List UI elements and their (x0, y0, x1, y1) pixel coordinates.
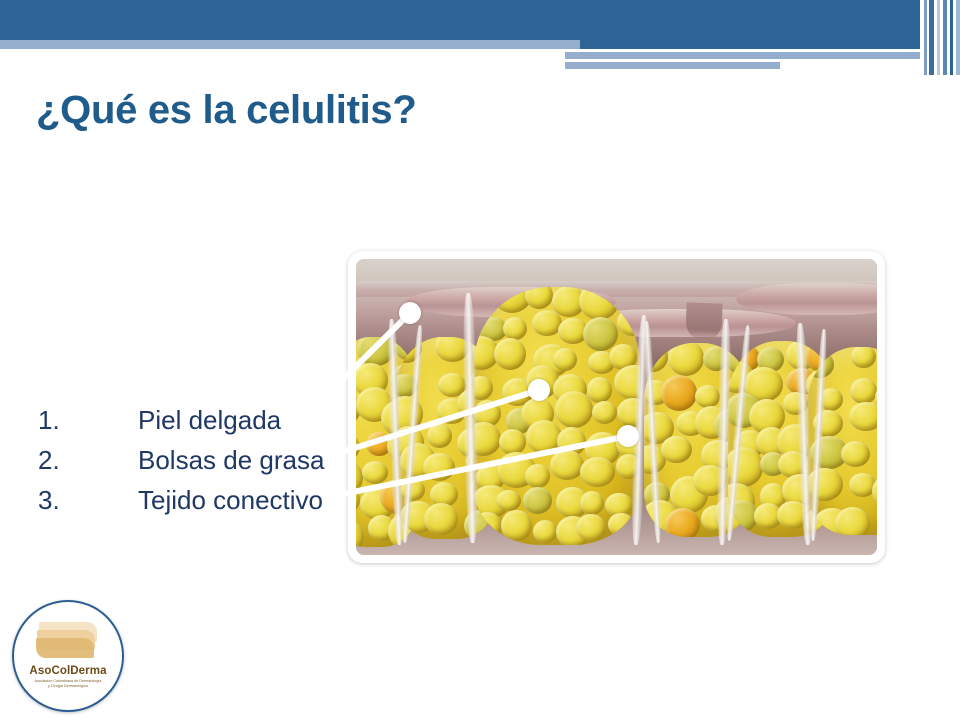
list-item-label: Piel delgada (138, 400, 368, 440)
fat-cell (356, 519, 364, 547)
fat-cell (503, 317, 527, 341)
fat-cell (587, 377, 613, 402)
fat-cell (608, 513, 633, 535)
numbered-list: 1. Piel delgada 2. Bolsas de grasa 3. Te… (38, 400, 368, 520)
fat-cell (474, 376, 493, 400)
fat-cell (851, 347, 876, 368)
callout-dot-tejido-conectivo (617, 425, 639, 447)
illustration-frame (348, 251, 885, 563)
header-stripe-group (920, 0, 960, 75)
header-band (0, 0, 960, 40)
fat-cell (849, 402, 877, 431)
fat-cell (474, 512, 502, 538)
fat-cell (583, 317, 618, 351)
fat-cell (841, 441, 870, 467)
logo-subtitle-line-2: y Cirugía Dermatológica (14, 684, 122, 689)
fat-cell (555, 391, 593, 428)
fat-cell (835, 507, 871, 535)
fat-cell (523, 487, 553, 514)
fat-cell (533, 520, 557, 543)
slide: ¿Qué es la celulitis? 1. Piel delgada 2.… (0, 0, 960, 720)
list-item-label: Bolsas de grasa (138, 440, 368, 480)
fat-cell (579, 287, 619, 320)
logo-sheet-2 (36, 638, 94, 658)
header-accent-left (0, 40, 580, 49)
header-accent-short (565, 62, 780, 69)
header-stripe-11 (956, 0, 960, 75)
list-item: 3. Tejido conectivo (38, 480, 368, 520)
illustration-image (356, 259, 877, 555)
fat-cell (423, 453, 456, 481)
list-item: 2. Bolsas de grasa (38, 440, 368, 480)
callout-dot-piel-delgada (399, 302, 421, 324)
fat-lobule (474, 287, 640, 545)
fat-cell (427, 424, 452, 448)
fat-cell (550, 450, 584, 479)
callout-dot-bolsas-de-grasa (528, 379, 550, 401)
list-item-number: 3. (38, 480, 138, 520)
fat-cell (661, 436, 692, 464)
logo-sheets-icon (36, 622, 100, 662)
fat-cell (474, 422, 501, 455)
list-item-number: 1. (38, 400, 138, 440)
list-item-number: 2. (38, 440, 138, 480)
asocolderma-logo: AsoColDerma Asociación Colombiana de Der… (12, 600, 124, 712)
fat-cell (525, 287, 553, 309)
epidermis-bulge-right (736, 283, 877, 315)
fat-cell (525, 464, 550, 488)
list-item: 1. Piel delgada (38, 400, 368, 440)
fat-cell (850, 378, 877, 403)
fat-cell (665, 508, 700, 537)
fat-cell (592, 401, 617, 424)
list-item-label: Tejido conectivo (138, 480, 368, 520)
fat-cell (668, 343, 704, 376)
fat-cell (617, 308, 640, 336)
fat-cell (424, 503, 458, 536)
fat-cell (362, 461, 388, 484)
fat-cell (580, 457, 615, 488)
header-band-right (580, 40, 960, 49)
logo-name: AsoColDerma (14, 665, 122, 677)
fat-cell (576, 514, 606, 541)
fat-cell (695, 385, 720, 408)
page-title: ¿Qué es la celulitis? (36, 88, 736, 132)
fat-cell (356, 432, 360, 463)
fat-cell (496, 490, 520, 511)
fat-cell (494, 338, 526, 370)
cellulite-cross-section-graphic (356, 259, 877, 555)
logo-subtitle: Asociación Colombiana de Dermatología y … (14, 679, 122, 688)
fat-cell (661, 375, 697, 410)
fat-cell (553, 348, 577, 372)
fat-cell (499, 429, 526, 455)
header-accent-long (565, 52, 920, 59)
fat-cell (580, 491, 604, 515)
fat-cell (501, 510, 531, 540)
